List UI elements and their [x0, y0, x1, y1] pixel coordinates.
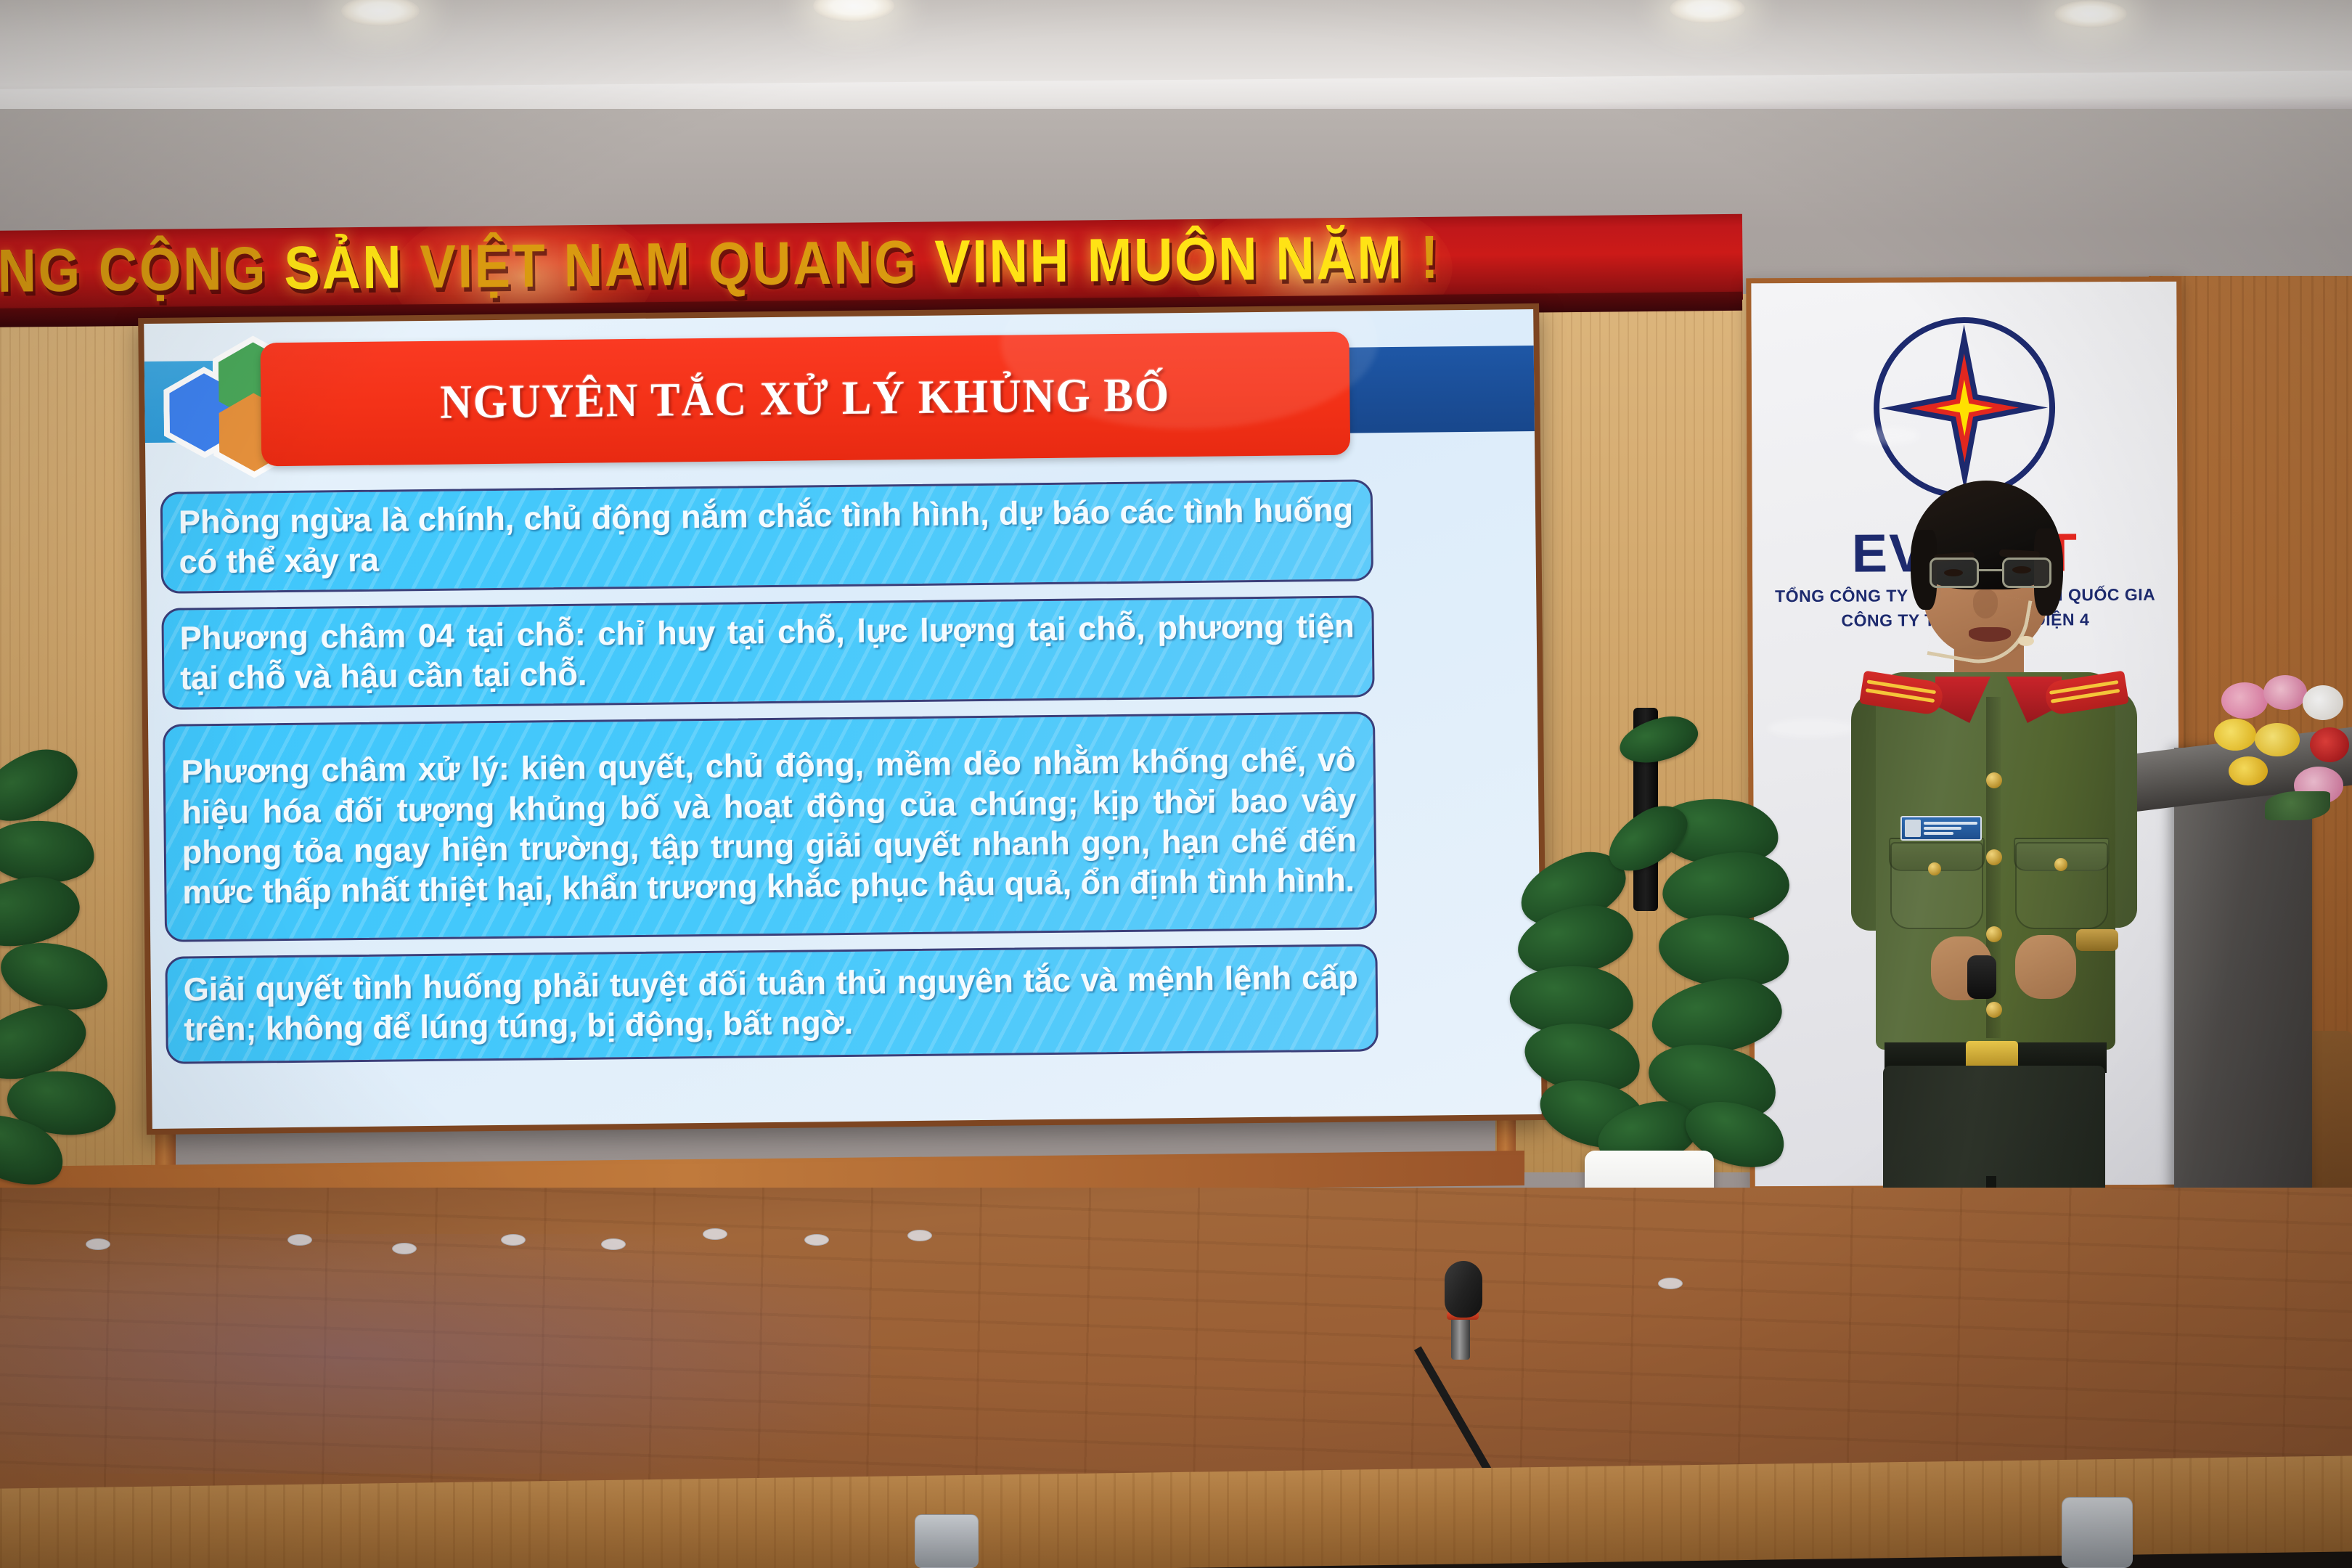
shirt-button	[1986, 772, 2002, 788]
flower-arrangement	[2207, 675, 2352, 893]
banner-slogan-text: ẢNG CỘNG SẢN VIỆT NAM QUANG VINH MUÔN NĂ…	[0, 222, 1441, 307]
floor-marker	[601, 1238, 626, 1250]
floor-reflection	[0, 1234, 871, 1474]
flower-pink	[2221, 682, 2268, 719]
slide-bullet-3-text: Phương châm xử lý: kiên quyết, chủ động,…	[181, 740, 1357, 912]
slide-bullet-2-text: Phương châm 04 tại chỗ: chỉ huy tại chỗ,…	[179, 605, 1355, 698]
flower-red	[2310, 727, 2349, 762]
slide-bullet-2: Phương châm 04 tại chỗ: chỉ huy tại chỗ,…	[161, 595, 1374, 709]
microphone-shaft	[1451, 1318, 1470, 1360]
badge-text-lines	[1924, 822, 1977, 835]
plant-leaf	[1615, 711, 1702, 769]
badge-line	[1924, 827, 1961, 830]
microphone-head[interactable]	[1445, 1261, 1482, 1318]
slide-bullet-4-text: Giải quyết tình huống phải tuyệt đối tuâ…	[184, 957, 1359, 1050]
glasses-bridge	[1979, 569, 2002, 571]
name-badge	[1900, 816, 1982, 841]
plant-leaf	[1661, 849, 1792, 926]
banner-part-highlight: SẢN	[284, 232, 404, 302]
table-base-right	[2062, 1497, 2133, 1568]
chest-pocket-right	[2015, 842, 2108, 929]
flower-green-leaf	[2265, 791, 2330, 820]
table-base-left	[915, 1514, 979, 1568]
flower-pink	[2263, 675, 2307, 710]
flower-yellow	[2229, 756, 2268, 785]
left-foliage	[0, 740, 145, 1191]
slide-bullet-1: Phòng ngừa là chính, chủ động nắm chắc t…	[160, 479, 1373, 593]
plant-foliage	[1510, 697, 1793, 1176]
eye-left	[1944, 569, 1963, 576]
banner-part-1: ẢNG CỘNG	[0, 234, 285, 305]
ceiling-light-4	[2054, 0, 2127, 28]
pocket-button-left	[1928, 862, 1941, 875]
headset-microphone-tip	[2018, 636, 2034, 646]
slide-bullet-3: Phương châm xử lý: kiên quyết, chủ động,…	[163, 711, 1377, 942]
badge-line	[1924, 832, 1953, 835]
slide-bullet-1-text: Phòng ngừa là chính, chủ động nắm chắc t…	[179, 489, 1354, 582]
presentation-slide: NGUYÊN TẮC XỬ LÝ KHỦNG BỐ Phòng ngừa là …	[144, 309, 1542, 1129]
banner-part-2: VIỆT NAM QUANG	[403, 227, 935, 301]
flower-yellow	[2255, 723, 2300, 756]
conference-room-scene: ẢNG CỘNG SẢN VIỆT NAM QUANG VINH MUÔN NĂ…	[0, 0, 2352, 1568]
flower-white	[2303, 685, 2343, 720]
banner-part-3: !	[1403, 223, 1440, 291]
slide-bullet-4: Giải quyết tình huống phải tuyệt đối tuâ…	[165, 944, 1378, 1063]
floor-marker	[392, 1243, 417, 1254]
floor-marker	[287, 1234, 312, 1246]
floor-marker	[501, 1234, 526, 1246]
shirt-button	[1986, 849, 2002, 865]
badge-line	[1924, 822, 1977, 825]
floor-marker	[703, 1228, 727, 1240]
plant-leaf	[0, 738, 88, 833]
hand-right	[2015, 935, 2076, 999]
projection-screen[interactable]: NGUYÊN TẮC XỬ LÝ KHỦNG BỐ Phòng ngừa là …	[138, 303, 1548, 1135]
flower-yellow	[2214, 719, 2256, 751]
floor-marker	[804, 1234, 829, 1246]
shirt-button	[1986, 926, 2002, 942]
eye-right	[2012, 566, 2031, 573]
wristwatch	[2076, 929, 2118, 951]
chest-pocket-left	[1890, 842, 1983, 929]
banner-part-highlight-2: VINH MUÔN NĂM	[934, 223, 1404, 295]
badge-emblem-icon	[1905, 820, 1921, 837]
floor-marker	[1658, 1278, 1683, 1289]
plant-leaf	[0, 873, 83, 951]
floor-marker	[907, 1230, 932, 1241]
presentation-clicker[interactable]	[1967, 955, 1996, 999]
pocket-button-right	[2054, 858, 2067, 871]
shirt-button	[1986, 1002, 2002, 1018]
floor-marker	[86, 1238, 110, 1250]
